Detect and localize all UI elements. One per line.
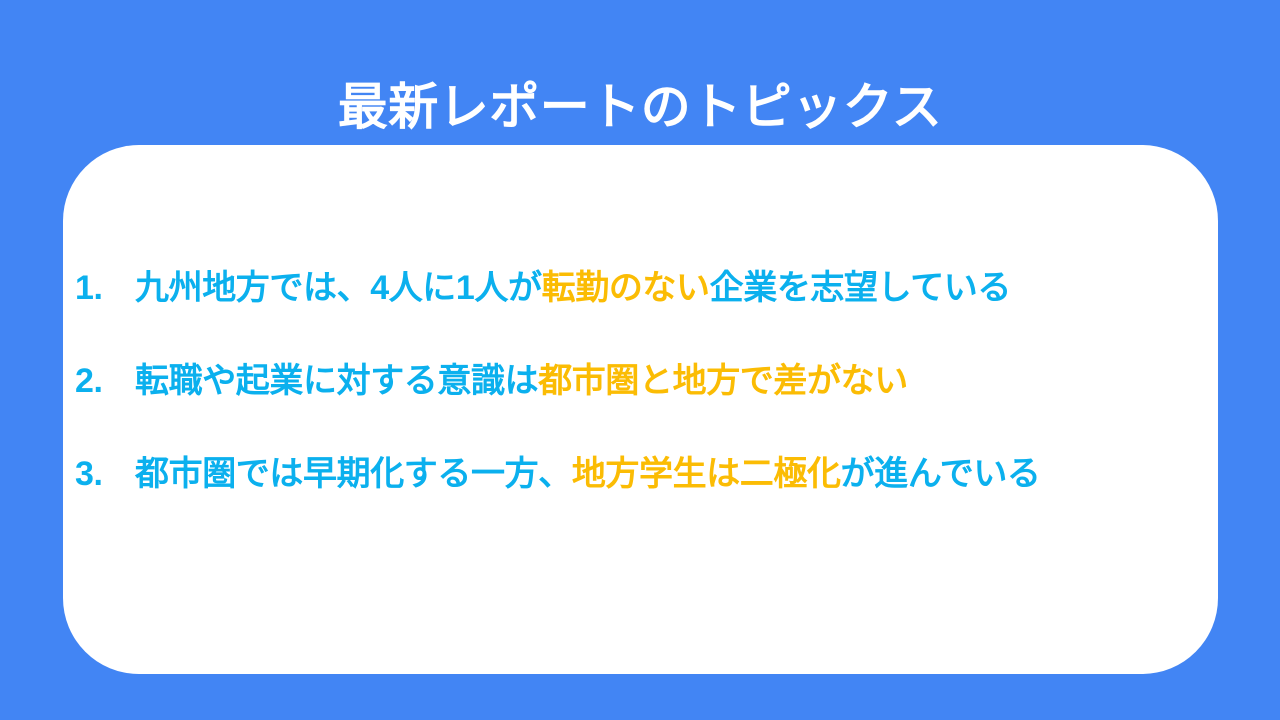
topic-segment: 企業を志望している (710, 269, 1011, 307)
topic-number: 1. (75, 271, 135, 305)
topic-text: 九州地方では、4人に1人が転勤のない企業を志望している (135, 271, 1011, 305)
list-item: 2. 転職や起業に対する意識は都市圏と地方で差がない (75, 364, 908, 398)
topic-text: 都市圏では早期化する一方、地方学生は二極化が進んでいる (135, 457, 1041, 491)
topic-segment: 九州地方では、4人に1人が (135, 269, 542, 307)
topics-card: 1. 九州地方では、4人に1人が転勤のない企業を志望している 2. 転職や起業に… (63, 145, 1218, 674)
list-item: 3. 都市圏では早期化する一方、地方学生は二極化が進んでいる (75, 457, 1041, 491)
topic-number: 3. (75, 457, 135, 491)
topic-segment: 都市圏では早期化する一方、 (135, 455, 572, 493)
topic-segment-highlight: 地方学生は二極化 (572, 455, 841, 493)
list-item: 1. 九州地方では、4人に1人が転勤のない企業を志望している (75, 271, 1011, 305)
topic-text: 転職や起業に対する意識は都市圏と地方で差がない (135, 364, 908, 398)
page-title: 最新レポートのトピックス (0, 78, 1280, 137)
topic-segment: が進んでいる (841, 455, 1041, 493)
slide-root: 最新レポートのトピックス 1. 九州地方では、4人に1人が転勤のない企業を志望し… (0, 0, 1280, 720)
topic-number: 2. (75, 364, 135, 398)
topic-segment-highlight: 都市圏と地方で差がない (538, 362, 908, 400)
topic-segment: 転職や起業に対する意識は (135, 362, 538, 400)
topic-segment-highlight: 転勤のない (542, 269, 710, 307)
